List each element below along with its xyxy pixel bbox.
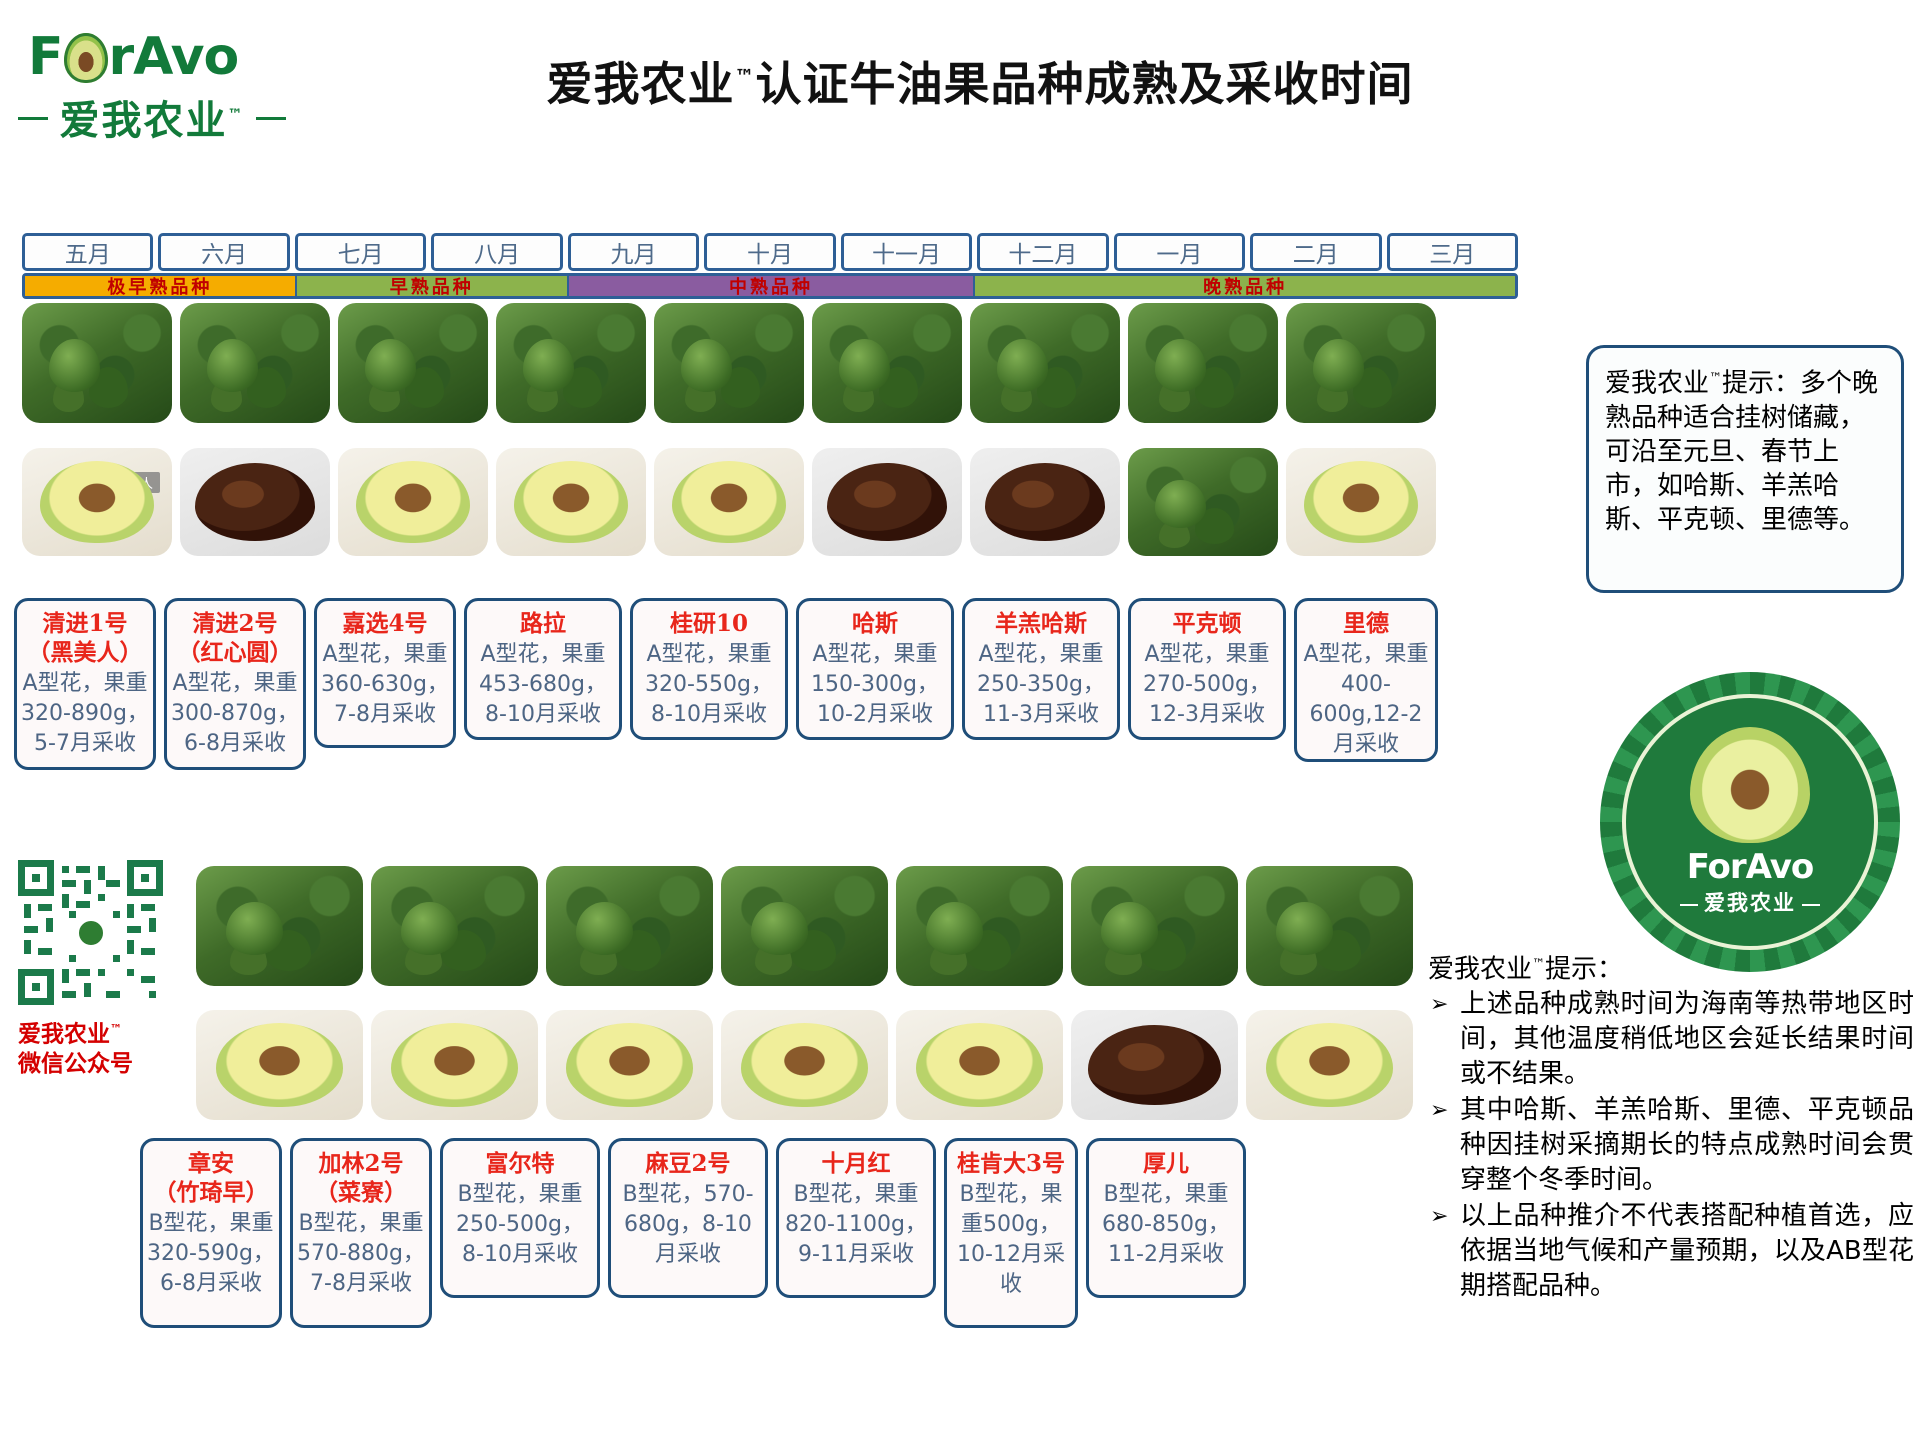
foravo-logo: FrAvo 爱我农业™	[22, 28, 282, 148]
variety-name: 富尔特	[447, 1149, 593, 1178]
month-cell: 一月	[1114, 233, 1245, 271]
variety-desc: A型花，果重400-600g,12-2月采收	[1301, 640, 1431, 760]
season-band-row: 极早熟品种 早熟品种 中熟品种 晚熟品种	[22, 273, 1518, 299]
fruit-photo	[196, 1010, 363, 1120]
fruit-photo	[1128, 448, 1278, 556]
tips-heading-brand: 爱我农业	[1428, 955, 1532, 985]
variety-desc: B型花，果重820-1100g，9-11月采收	[783, 1180, 929, 1270]
tree-photo	[1128, 303, 1278, 423]
fruit-photo	[896, 1010, 1063, 1120]
logo-chinese-name: 爱我农业™	[22, 88, 282, 146]
tree-photo	[371, 866, 538, 986]
month-cell: 十月	[704, 233, 835, 271]
fruit-photo	[970, 448, 1120, 556]
tips-list-item: ➢ 以上品种推介不代表搭配种植首选，应依据当地气候和产量预期，以及AB型花期搭配…	[1428, 1199, 1914, 1304]
seal-inner: ForAvo 爱我农业	[1622, 694, 1878, 950]
tree-photo	[812, 303, 962, 423]
tree-photo	[970, 303, 1120, 423]
foravo-certification-seal: ForAvo 爱我农业	[1600, 672, 1900, 972]
tree-photo	[654, 303, 804, 423]
season-band-very-early: 极早熟品种	[25, 276, 297, 296]
arrow-bullet-icon: ➢	[1430, 1199, 1448, 1234]
month-cell: 七月	[295, 233, 426, 271]
variety-name: 加林2号	[297, 1149, 425, 1178]
page-title-brand: 爱我农业	[547, 57, 735, 111]
qr-center-logo	[76, 918, 106, 948]
tips-notes-block: 爱我农业™提示： ➢ 上述品种成熟时间为海南等热带地区时间，其他温度稍低地区会延…	[1428, 948, 1914, 1305]
arrow-bullet-icon: ➢	[1430, 1093, 1448, 1128]
tips-item-text: 其中哈斯、羊羔哈斯、里德、平克顿品种因挂树采摘期长的特点成熟时间会贯穿整个冬季时…	[1460, 1095, 1914, 1195]
tree-photo	[1071, 866, 1238, 986]
row1-fruit-photos: 黑美人	[22, 448, 1444, 556]
fruit-photo	[546, 1010, 713, 1120]
logo-cn-text: 爱我农业	[60, 98, 228, 144]
avocado-o-icon	[64, 33, 108, 83]
variety-desc: A型花，果重150-300g，10-2月采收	[803, 640, 947, 730]
tip-box-text: 爱我农业™提示：多个晚熟品种适合挂树储藏，可沿至元旦、春节上市，如哈斯、羊羔哈斯…	[1605, 362, 1885, 537]
variety-alias: （菜寮）	[297, 1178, 425, 1207]
fruit-photo	[721, 1010, 888, 1120]
logo-word-post: rAvo	[109, 27, 239, 87]
month-row: 五月 六月 七月 八月 九月 十月 十一月 十二月 一月 二月 三月	[22, 233, 1518, 271]
variety-name: 桂研10	[637, 609, 781, 638]
variety-card-houer[interactable]: 厚儿 B型花，果重680-850g，11-2月采收	[1086, 1138, 1246, 1298]
seal-chinese-name: 爱我农业	[1704, 887, 1796, 917]
variety-desc: B型花，570-680g，8-10月采收	[615, 1180, 761, 1270]
tree-photo	[721, 866, 888, 986]
tree-photo	[496, 303, 646, 423]
variety-name: 十月红	[783, 1149, 929, 1178]
variety-card-madou2[interactable]: 麻豆2号 B型花，570-680g，8-10月采收	[608, 1138, 768, 1298]
qr-caption-tm: ™	[110, 1022, 122, 1036]
month-cell: 五月	[22, 233, 153, 271]
variety-card-zhangan[interactable]: 章安 （竹琦早） B型花，果重320-590g，6-8月采收	[140, 1138, 282, 1328]
variety-name: 平克顿	[1135, 609, 1279, 638]
avocado-icon	[1690, 727, 1810, 843]
variety-name: 麻豆2号	[615, 1149, 761, 1178]
month-cell: 三月	[1387, 233, 1518, 271]
variety-name: 清进1号	[21, 609, 149, 638]
fruit-photo	[812, 448, 962, 556]
tips-list: ➢ 上述品种成熟时间为海南等热带地区时间，其他温度稍低地区会延长结果时间或不结果…	[1428, 987, 1914, 1304]
variety-name: 路拉	[471, 609, 615, 638]
row1-tree-photos	[22, 303, 1444, 423]
variety-card-shiyuehong[interactable]: 十月红 B型花，果重820-1100g，9-11月采收	[776, 1138, 936, 1298]
tree-photo	[22, 303, 172, 423]
variety-name: 章安	[147, 1149, 275, 1178]
page-title-rest: 认证牛油果品种成熟及采收时间	[756, 57, 1414, 111]
qr-caption-line2: 微信公众号	[18, 1050, 178, 1079]
variety-desc: B型花，果重320-590g，6-8月采收	[147, 1209, 275, 1299]
variety-name: 羊羔哈斯	[969, 609, 1113, 638]
variety-desc: B型花，果重680-850g，11-2月采收	[1093, 1180, 1239, 1270]
variety-desc: A型花，果重320-550g，8-10月采收	[637, 640, 781, 730]
variety-alias: （竹琦早）	[147, 1178, 275, 1207]
variety-card-qingjin1[interactable]: 清进1号 （黑美人） A型花，果重320-890g，5-7月采收	[14, 598, 156, 770]
qr-caption-brand: 爱我农业	[18, 1022, 110, 1048]
variety-name: 里德	[1301, 609, 1431, 638]
variety-desc: A型花，果重300-870g，6-8月采收	[171, 669, 299, 759]
variety-desc: B型花，果重570-880g，7-8月采收	[297, 1209, 425, 1299]
tip-head-tm: ™	[1709, 371, 1722, 386]
page-title-tm: ™	[735, 65, 756, 89]
row2-variety-cards: 章安 （竹琦早） B型花，果重320-590g，6-8月采收 加林2号 （菜寮）…	[140, 1138, 1254, 1328]
tips-list-item: ➢ 上述品种成熟时间为海南等热带地区时间，其他温度稍低地区会延长结果时间或不结果…	[1428, 987, 1914, 1092]
tips-item-text: 上述品种成熟时间为海南等热带地区时间，其他温度稍低地区会延长结果时间或不结果。	[1460, 989, 1914, 1089]
variety-card-lambhass[interactable]: 羊羔哈斯 A型花，果重250-350g，11-3月采收	[962, 598, 1120, 740]
tree-photo	[180, 303, 330, 423]
wechat-qr-block: 爱我农业™ 微信公众号	[18, 860, 178, 1079]
fruit-photo: 黑美人	[22, 448, 172, 556]
fruit-photo	[496, 448, 646, 556]
variety-name: 桂肯大3号	[951, 1149, 1071, 1178]
tips-list-item: ➢ 其中哈斯、羊羔哈斯、里德、平克顿品种因挂树采摘期长的特点成熟时间会贯穿整个冬…	[1428, 1093, 1914, 1198]
month-cell: 二月	[1250, 233, 1381, 271]
tree-photo	[196, 866, 363, 986]
row1-variety-cards: 清进1号 （黑美人） A型花，果重320-890g，5-7月采收 清进2号 （红…	[14, 598, 1446, 770]
tree-photo	[546, 866, 713, 986]
qr-code[interactable]	[18, 860, 163, 1005]
season-band-early: 早熟品种	[297, 276, 569, 296]
variety-name: 厚儿	[1093, 1149, 1239, 1178]
variety-card-fuerte[interactable]: 富尔特 B型花，果重250-500g，8-10月采收	[440, 1138, 600, 1298]
tip-head-brand: 爱我农业	[1605, 369, 1709, 399]
fruit-photo	[1246, 1010, 1413, 1120]
tip-box-storage: 爱我农业™提示：多个晚熟品种适合挂树储藏，可沿至元旦、春节上市，如哈斯、羊羔哈斯…	[1586, 345, 1904, 593]
variety-card-guikenda3[interactable]: 桂肯大3号 B型花，果重500g，10-12月采收	[944, 1138, 1078, 1328]
variety-desc: A型花，果重320-890g，5-7月采收	[21, 669, 149, 759]
arrow-bullet-icon: ➢	[1430, 987, 1448, 1022]
logo-word-pre: F	[28, 27, 63, 87]
variety-card-pinkerton[interactable]: 平克顿 A型花，果重270-500g，12-3月采收	[1128, 598, 1286, 740]
variety-desc: B型花，果重500g，10-12月采收	[951, 1180, 1071, 1300]
variety-card-qingjin2[interactable]: 清进2号 （红心圆） A型花，果重300-870g，6-8月采收	[164, 598, 306, 770]
fruit-photo	[1286, 448, 1436, 556]
page-header: FrAvo 爱我农业™ 爱我农业™认证牛油果品种成熟及采收时间	[0, 0, 1920, 170]
row2-fruit-photos	[196, 1010, 1421, 1120]
season-band-late: 晚熟品种	[975, 276, 1515, 296]
fruit-photo	[654, 448, 804, 556]
fruit-photo	[338, 448, 488, 556]
month-cell: 八月	[431, 233, 562, 271]
tips-heading: 爱我农业™提示：	[1428, 948, 1914, 987]
variety-card-hass[interactable]: 哈斯 A型花，果重150-300g，10-2月采收	[796, 598, 954, 740]
tips-heading-rest: 提示：	[1545, 955, 1623, 985]
fruit-photo	[371, 1010, 538, 1120]
month-cell: 六月	[158, 233, 289, 271]
month-cell: 十一月	[841, 233, 972, 271]
variety-desc: A型花，果重270-500g，12-3月采收	[1135, 640, 1279, 730]
fruit-photo	[180, 448, 330, 556]
variety-alias: （红心圆）	[171, 638, 299, 667]
tree-photo	[1246, 866, 1413, 986]
tree-photo	[338, 303, 488, 423]
tree-photo	[896, 866, 1063, 986]
variety-card-guiyan10[interactable]: 桂研10 A型花，果重320-550g，8-10月采收	[630, 598, 788, 740]
variety-desc: B型花，果重250-500g，8-10月采收	[447, 1180, 593, 1270]
tips-heading-tm: ™	[1532, 957, 1545, 972]
season-band-mid: 中熟品种	[569, 276, 976, 296]
month-cell: 九月	[568, 233, 699, 271]
page-title: 爱我农业™认证牛油果品种成熟及采收时间	[330, 48, 1630, 114]
fruit-photo	[1071, 1010, 1238, 1120]
logo-tm-mark: ™	[228, 106, 245, 124]
tips-item-text: 以上品种推介不代表搭配种植首选，应依据当地气候和产量预期，以及AB型花期搭配品种…	[1460, 1201, 1914, 1301]
variety-desc: A型花，果重453-680g，8-10月采收	[471, 640, 615, 730]
variety-name: 哈斯	[803, 609, 947, 638]
variety-card-jialin2[interactable]: 加林2号 （菜寮） B型花，果重570-880g，7-8月采收	[290, 1138, 432, 1328]
timeline-header: 五月 六月 七月 八月 九月 十月 十一月 十二月 一月 二月 三月 极早熟品种…	[22, 233, 1518, 299]
tree-photo	[1286, 303, 1436, 423]
tip-head-rest: 提示：	[1722, 369, 1800, 399]
variety-name: 清进2号	[171, 609, 299, 638]
seal-wordmark: ForAvo	[1687, 847, 1814, 887]
qr-caption: 爱我农业™ 微信公众号	[18, 1015, 178, 1079]
row2-tree-photos	[196, 866, 1421, 986]
variety-desc: A型花，果重360-630g，7-8月采收	[321, 640, 449, 730]
variety-card-reed[interactable]: 里德 A型花，果重400-600g,12-2月采收	[1294, 598, 1438, 762]
logo-wordmark: FrAvo	[22, 28, 282, 86]
variety-card-jiaxuan4[interactable]: 嘉选4号 A型花，果重360-630g，7-8月采收	[314, 598, 456, 748]
fruit-photo-label: 黑美人	[106, 472, 160, 493]
month-cell: 十二月	[977, 233, 1108, 271]
variety-card-lula[interactable]: 路拉 A型花，果重453-680g，8-10月采收	[464, 598, 622, 740]
variety-name: 嘉选4号	[321, 609, 449, 638]
variety-desc: A型花，果重250-350g，11-3月采收	[969, 640, 1113, 730]
variety-alias: （黑美人）	[21, 638, 149, 667]
